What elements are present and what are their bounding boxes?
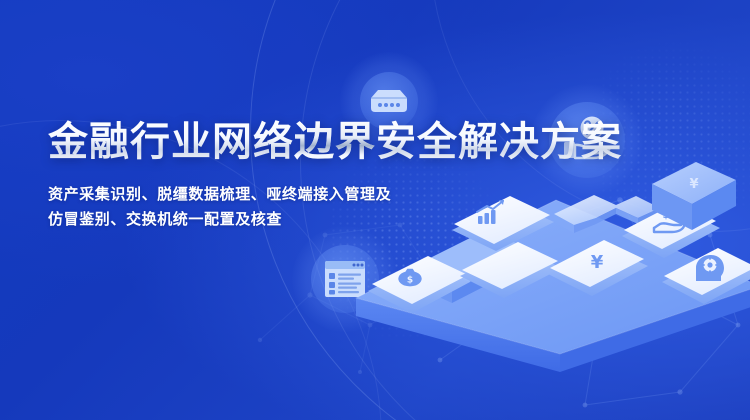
subtitle-line-2: 仿冒鉴别、交换机统一配置及核查 [48,207,622,232]
page-title: 金融行业网络边界安全解决方案 [48,118,622,166]
brain-gear-icon [696,255,724,281]
headline-block: 金融行业网络边界安全解决方案 资产采集识别、脱缰数据梳理、哑终端接入管理及 仿冒… [48,118,622,232]
yen-currency-icon: ¥ [591,252,604,273]
yen-cube-icon: ¥ [689,177,698,192]
svg-text:$: $ [407,275,413,285]
title-lead: 金融行业网络 [48,119,294,165]
page-subtitle: 资产采集识别、脱缰数据梳理、哑终端接入管理及 仿冒鉴别、交换机统一配置及核查 [48,182,622,232]
title-highlight: 边界 [294,119,376,165]
switch-device-icon [367,86,411,116]
subtitle-line-1: 资产采集识别、脱缰数据梳理、哑终端接入管理及 [48,182,622,207]
banner-root: $ [0,0,750,420]
title-tail: 安全解决方案 [376,119,622,165]
